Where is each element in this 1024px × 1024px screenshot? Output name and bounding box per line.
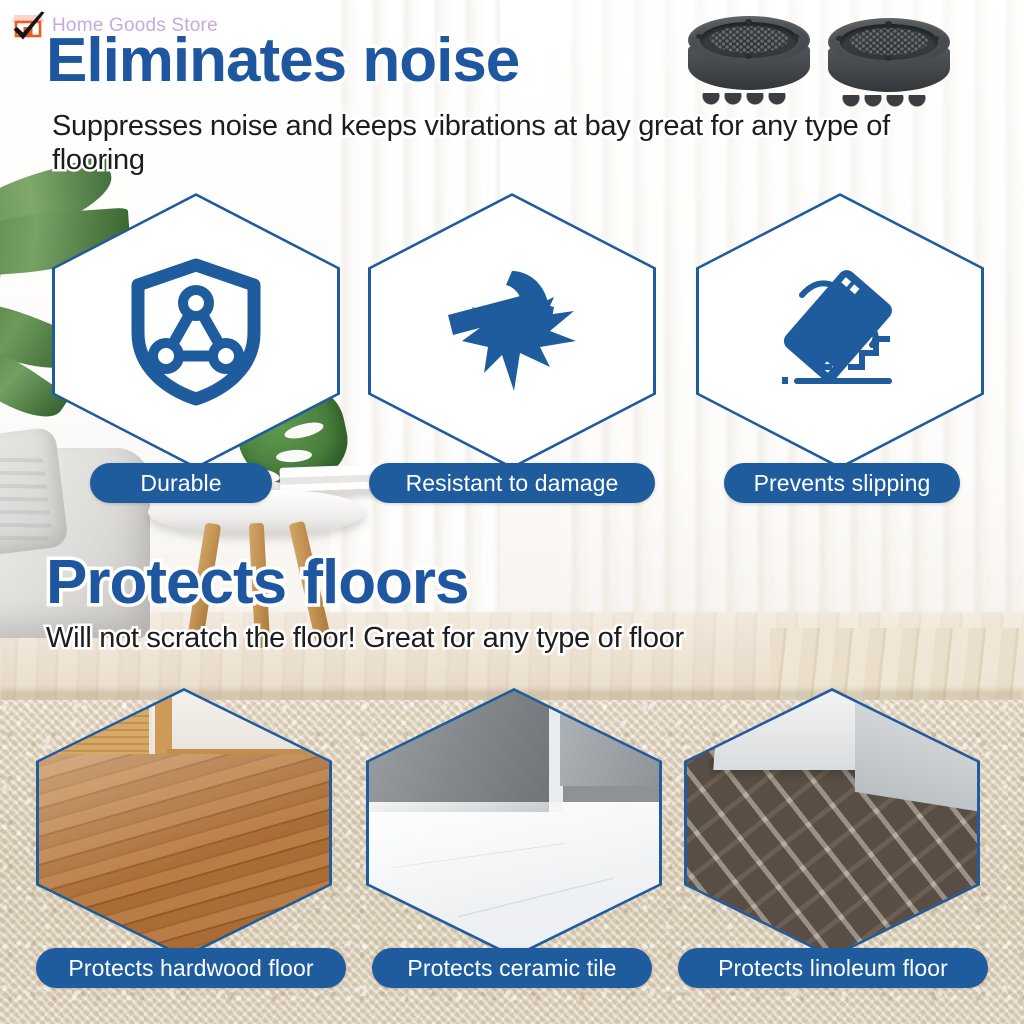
pad-screw-hole (885, 21, 892, 26)
floor-label-hardwood[interactable]: Protects hardwood floor (36, 948, 346, 988)
pad-screw-hole (836, 36, 843, 41)
product-anti-vibration-pads (686, 8, 964, 108)
feature-label-prevents-slipping[interactable]: Prevents slipping (724, 463, 960, 503)
ceramic-tile-photo (369, 691, 659, 955)
brand-watermark: Home Goods Store (8, 6, 218, 46)
pad-left (686, 16, 812, 100)
feature-label-resistant[interactable]: Resistant to damage (369, 463, 655, 503)
pad-feet (841, 95, 937, 107)
hardwood-floor-photo (39, 691, 329, 955)
pad-screw-hole (745, 54, 752, 59)
subtitle-protects-floors: Will not scratch the floor! Great for an… (46, 622, 946, 656)
floor-hexagon-hardwood[interactable] (36, 688, 332, 958)
pad-screw-hole (932, 36, 939, 41)
floor-hexagon-ceramic[interactable] (366, 688, 662, 958)
pad-screw-hole (885, 56, 892, 61)
pad-screw-hole (792, 34, 799, 39)
pad-feet (701, 93, 797, 105)
subtitle-eliminates-noise: Suppresses noise and keeps vibrations at… (52, 110, 912, 177)
pad-screw-hole (745, 19, 752, 24)
pad-screw-hole (696, 34, 703, 39)
floor-label-linoleum[interactable]: Protects linoleum floor (678, 948, 988, 988)
page-title-protects-floors: Protects floors (46, 552, 469, 614)
storefront-check-icon (8, 6, 48, 46)
floor-label-ceramic[interactable]: Protects ceramic tile (372, 948, 652, 988)
floor-hexagon-linoleum[interactable] (684, 688, 980, 958)
pad-right (826, 18, 952, 102)
pad-honeycomb-texture (850, 28, 928, 55)
pad-honeycomb-texture (710, 26, 788, 53)
watermark-label: Home Goods Store (52, 15, 218, 37)
linoleum-floor-photo (687, 691, 977, 955)
feature-label-durable[interactable]: Durable (90, 463, 272, 503)
product-marketing-image: Home Goods Store Eliminates noise Suppre… (0, 0, 1024, 1024)
